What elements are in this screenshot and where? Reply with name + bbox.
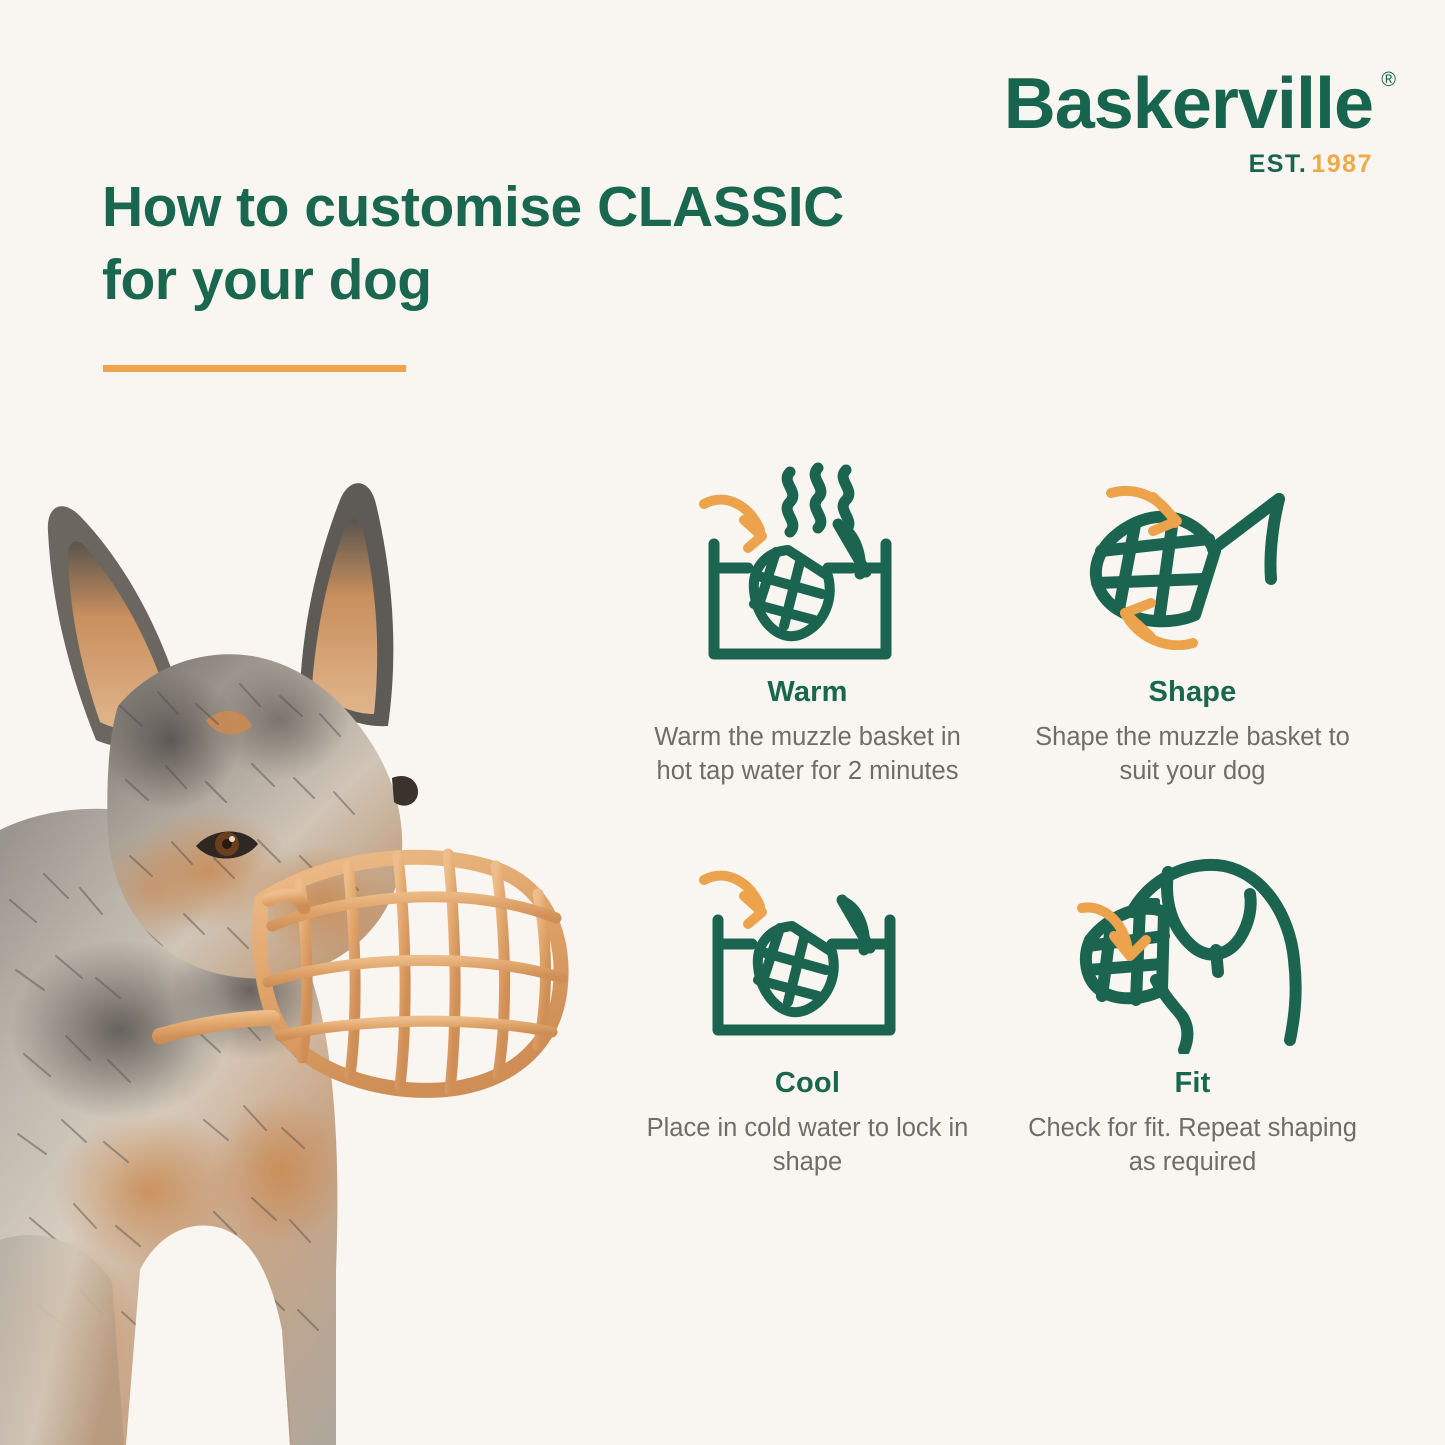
established-label: EST. xyxy=(1249,150,1308,178)
cool-basin-icon xyxy=(688,846,928,1061)
brand-wordmark: Baskerville® xyxy=(1004,68,1373,140)
warm-basin-with-steam-icon xyxy=(688,455,928,670)
brand-logo: Baskerville® EST.1987 xyxy=(1004,68,1373,177)
shape-muzzle-arrows-icon xyxy=(1073,455,1313,670)
page-title: How to customise CLASSIC for your dog xyxy=(102,171,862,317)
step-description: Warm the muzzle basket in hot tap water … xyxy=(643,721,973,788)
brand-established: EST.1987 xyxy=(1004,152,1373,177)
steps-grid: Warm Warm the muzzle basket in hot tap w… xyxy=(620,455,1380,1180)
step-description: Check for fit. Repeat shaping as require… xyxy=(1028,1112,1358,1179)
step-title: Warm xyxy=(767,676,847,709)
step-title: Cool xyxy=(775,1067,840,1100)
step-title: Shape xyxy=(1148,676,1236,709)
step-cool: Cool Place in cold water to lock in shap… xyxy=(620,846,995,1179)
step-title: Fit xyxy=(1174,1067,1210,1100)
step-description: Shape the muzzle basket to suit your dog xyxy=(1028,721,1358,788)
dog-photo xyxy=(0,470,600,1445)
step-shape: Shape Shape the muzzle basket to suit yo… xyxy=(1005,455,1380,788)
step-description: Place in cold water to lock in shape xyxy=(643,1112,973,1179)
fit-dog-head-muzzle-icon xyxy=(1068,846,1318,1061)
step-warm: Warm Warm the muzzle basket in hot tap w… xyxy=(620,455,995,788)
established-year: 1987 xyxy=(1311,150,1373,178)
brand-name: Baskerville xyxy=(1004,64,1373,144)
infographic-page: Baskerville® EST.1987 How to customise C… xyxy=(0,0,1445,1445)
step-fit: Fit Check for fit. Repeat shaping as req… xyxy=(1005,846,1380,1179)
registered-trademark-icon: ® xyxy=(1381,70,1395,90)
accent-divider xyxy=(103,365,406,372)
